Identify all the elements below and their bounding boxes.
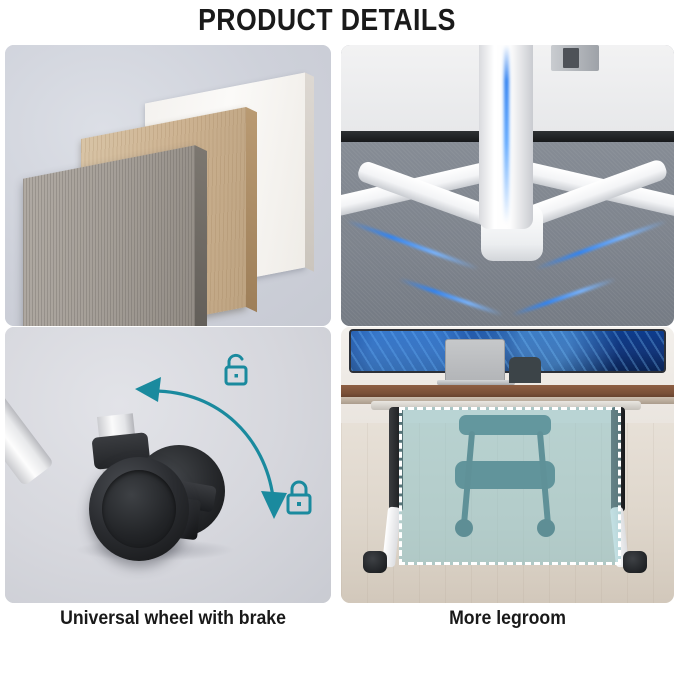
details-grid: E1 particle board Aluminum al [5, 45, 674, 670]
rotation-arrow-icon [125, 369, 305, 544]
legroom-highlight-area [399, 407, 621, 565]
particle-board-image [5, 45, 331, 326]
product-details-page: PRODUCT DETAILS E1 particle board [0, 0, 679, 673]
detail-cell-universal-wheel: Universal wheel with brake [5, 327, 341, 610]
detail-cell-metal-frame: Aluminum alloy metal frame [341, 45, 674, 327]
caption-universal-wheel: Universal wheel with brake [17, 608, 329, 630]
page-title: PRODUCT DETAILS [0, 0, 679, 40]
more-legroom-image [341, 327, 674, 603]
page-title-text: PRODUCT DETAILS [198, 2, 482, 38]
desk-caster-left [363, 551, 387, 573]
board-oak-edge [246, 107, 257, 312]
column-blue-glow [504, 45, 509, 223]
caption-more-legroom: More legroom [353, 608, 663, 630]
chair-headrest [509, 357, 541, 383]
board-grey-edge [195, 145, 207, 326]
desk-caster-right [623, 551, 647, 573]
detail-cell-more-legroom: More legroom [341, 327, 674, 610]
ultrawide-monitor [349, 329, 666, 373]
board-white-edge [305, 72, 314, 271]
laptop [445, 339, 505, 381]
wall-fixture [551, 45, 599, 71]
universal-wheel-image [5, 327, 331, 603]
detail-cell-particle-board: E1 particle board [5, 45, 341, 327]
metal-frame-image [341, 45, 674, 326]
